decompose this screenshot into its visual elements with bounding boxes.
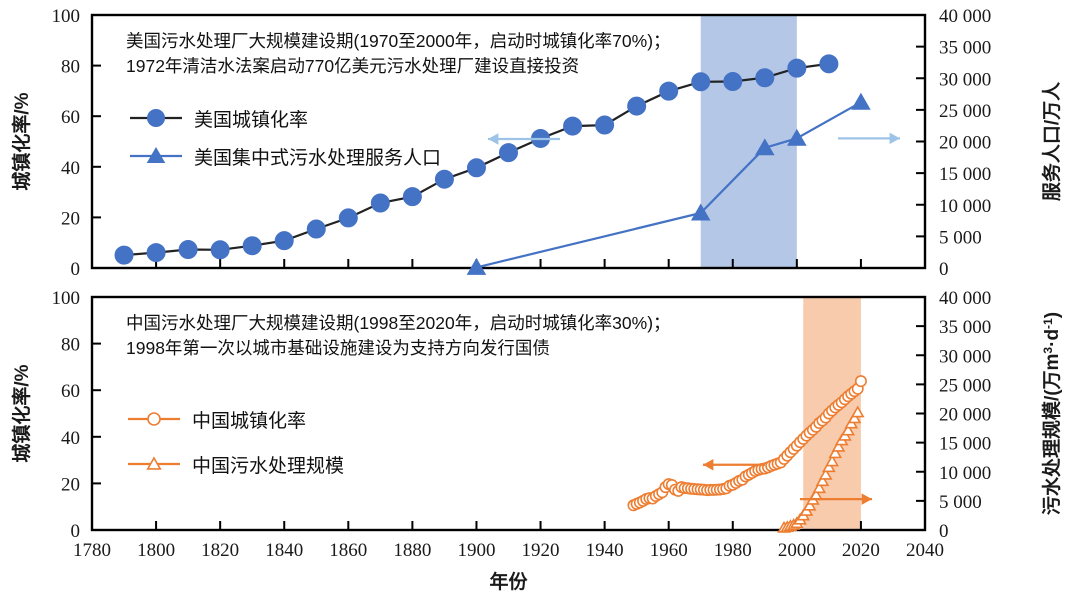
- series-marker: [852, 94, 870, 109]
- series-marker: [467, 159, 485, 177]
- dual-panel-line-chart: 02040608010005 00010 00015 00020 00025 0…: [0, 0, 1080, 597]
- x-axis-tick-label: 1820: [201, 540, 239, 561]
- left-axis-tick-label: 100: [52, 6, 81, 27]
- x-axis-tick-label: 1880: [393, 540, 431, 561]
- x-axis-title: 年份: [489, 570, 528, 593]
- series-marker: [147, 244, 165, 262]
- series-line-美国集中式污水处理服务人口: [477, 102, 861, 267]
- right-axis-tick-label: 15 000: [939, 434, 991, 455]
- series-marker: [756, 69, 774, 87]
- x-axis-tick-label: 1960: [650, 540, 688, 561]
- series-marker: [179, 241, 197, 259]
- legend-label: 中国污水处理规模: [192, 455, 344, 477]
- right-axis-tick-label: 30 000: [939, 346, 991, 367]
- right-axis-tick-label: 35 000: [939, 317, 991, 338]
- x-axis-tick-label: 1920: [522, 540, 560, 561]
- right-axis-tick-label: 5 000: [939, 492, 982, 513]
- left-axis-tick-label: 0: [71, 521, 81, 542]
- bottom-panel-china: 02040608010005 00010 00015 00020 00025 0…: [10, 288, 1063, 542]
- left-axis-title: 城镇化率/%: [10, 364, 33, 462]
- panel-annotation-line-2: 1998年第一次以城市基础设施建设为支持方向发行国债: [126, 338, 550, 358]
- axis-pointer-arrowhead: [890, 133, 900, 145]
- right-axis-tick-label: 20 000: [939, 133, 991, 154]
- series-marker: [403, 188, 421, 206]
- left-axis-tick-label: 0: [71, 259, 81, 280]
- right-axis-tick-label: 35 000: [939, 38, 991, 59]
- right-axis-tick-label: 25 000: [939, 375, 991, 396]
- right-axis-tick-label: 0: [939, 259, 949, 280]
- x-axis-tick-label: 1800: [137, 540, 175, 561]
- x-axis-tick-label: 1860: [329, 540, 367, 561]
- series-marker: [435, 170, 453, 188]
- left-axis-tick-label: 60: [61, 107, 80, 128]
- left-axis-tick-label: 80: [61, 57, 80, 78]
- x-axis-tick-label: 2000: [778, 540, 816, 561]
- series-marker: [692, 73, 710, 91]
- series-marker: [724, 73, 742, 91]
- series-marker: [628, 97, 646, 115]
- right-axis-tick-label: 40 000: [939, 288, 991, 309]
- right-axis-tick-label: 10 000: [939, 196, 991, 217]
- right-axis-tick-label: 40 000: [939, 6, 991, 27]
- panel-annotation-line-2: 1972年清洁水法案启动770亿美元污水处理厂建设直接投资: [126, 56, 579, 76]
- series-marker: [788, 59, 806, 77]
- x-axis-tick-label: 1840: [265, 540, 303, 561]
- right-axis-tick-label: 25 000: [939, 101, 991, 122]
- x-axis: 1780180018201840186018801900192019401960…: [73, 540, 944, 593]
- legend-label: 美国集中式污水处理服务人口: [194, 147, 441, 169]
- right-axis-tick-label: 30 000: [939, 69, 991, 90]
- legend-marker-circle: [148, 413, 160, 425]
- right-axis-tick-label: 0: [939, 521, 949, 542]
- x-axis-tick-label: 1980: [714, 540, 752, 561]
- axis-pointer-arrowhead: [862, 493, 872, 505]
- x-axis-tick-label: 2040: [906, 540, 944, 561]
- axis-pointer-arrowhead: [488, 133, 498, 145]
- x-axis-tick-label: 1780: [73, 540, 111, 561]
- series-marker: [243, 237, 261, 255]
- axis-pointer-arrowhead: [703, 459, 713, 471]
- series-marker: [275, 232, 293, 250]
- legend-marker-circle: [148, 110, 165, 127]
- series-marker: [564, 117, 582, 135]
- left-axis-tick-label: 60: [61, 381, 80, 402]
- left-axis-tick-label: 20: [61, 474, 80, 495]
- x-axis-tick-label: 2020: [842, 540, 880, 561]
- series-marker: [500, 144, 518, 162]
- series-marker: [371, 194, 389, 212]
- right-axis-tick-label: 5 000: [939, 227, 982, 248]
- panel-annotation-line-1: 美国污水处理厂大规模建设期(1970至2000年，启动时城镇化率70%)；: [126, 31, 671, 51]
- panel-annotation-line-1: 中国污水处理厂大规模建设期(1998至2020年，启动时城镇化率30%)；: [126, 313, 671, 333]
- x-axis-tick-label: 1900: [457, 540, 495, 561]
- series-marker: [596, 116, 614, 134]
- left-axis-tick-label: 20: [61, 208, 80, 229]
- series-marker: [307, 220, 325, 238]
- left-axis-tick-label: 80: [61, 335, 80, 356]
- series-marker: [115, 246, 133, 264]
- series-marker: [660, 82, 678, 100]
- series-marker: [856, 376, 866, 386]
- figure-root: 02040608010005 00010 00015 00020 00025 0…: [0, 0, 1080, 597]
- left-axis-title: 城镇化率/%: [10, 92, 33, 190]
- legend-label: 中国城镇化率: [192, 410, 306, 432]
- series-marker: [820, 55, 838, 73]
- left-axis-tick-label: 100: [52, 288, 81, 309]
- right-axis-tick-label: 20 000: [939, 405, 991, 426]
- legend-label: 美国城镇化率: [194, 109, 308, 131]
- right-axis-title: 服务人口/万人: [1040, 81, 1063, 201]
- x-axis-tick-label: 1940: [586, 540, 624, 561]
- right-axis-tick-label: 15 000: [939, 164, 991, 185]
- left-axis-tick-label: 40: [61, 158, 80, 179]
- top-panel-usa: 02040608010005 00010 00015 00020 00025 0…: [10, 6, 1063, 280]
- series-marker: [339, 209, 357, 227]
- right-axis-title: 污水处理规模/(万m3·d-1): [1040, 312, 1063, 515]
- right-axis-tick-label: 10 000: [939, 463, 991, 484]
- left-axis-tick-label: 40: [61, 428, 80, 449]
- series-marker: [211, 241, 229, 259]
